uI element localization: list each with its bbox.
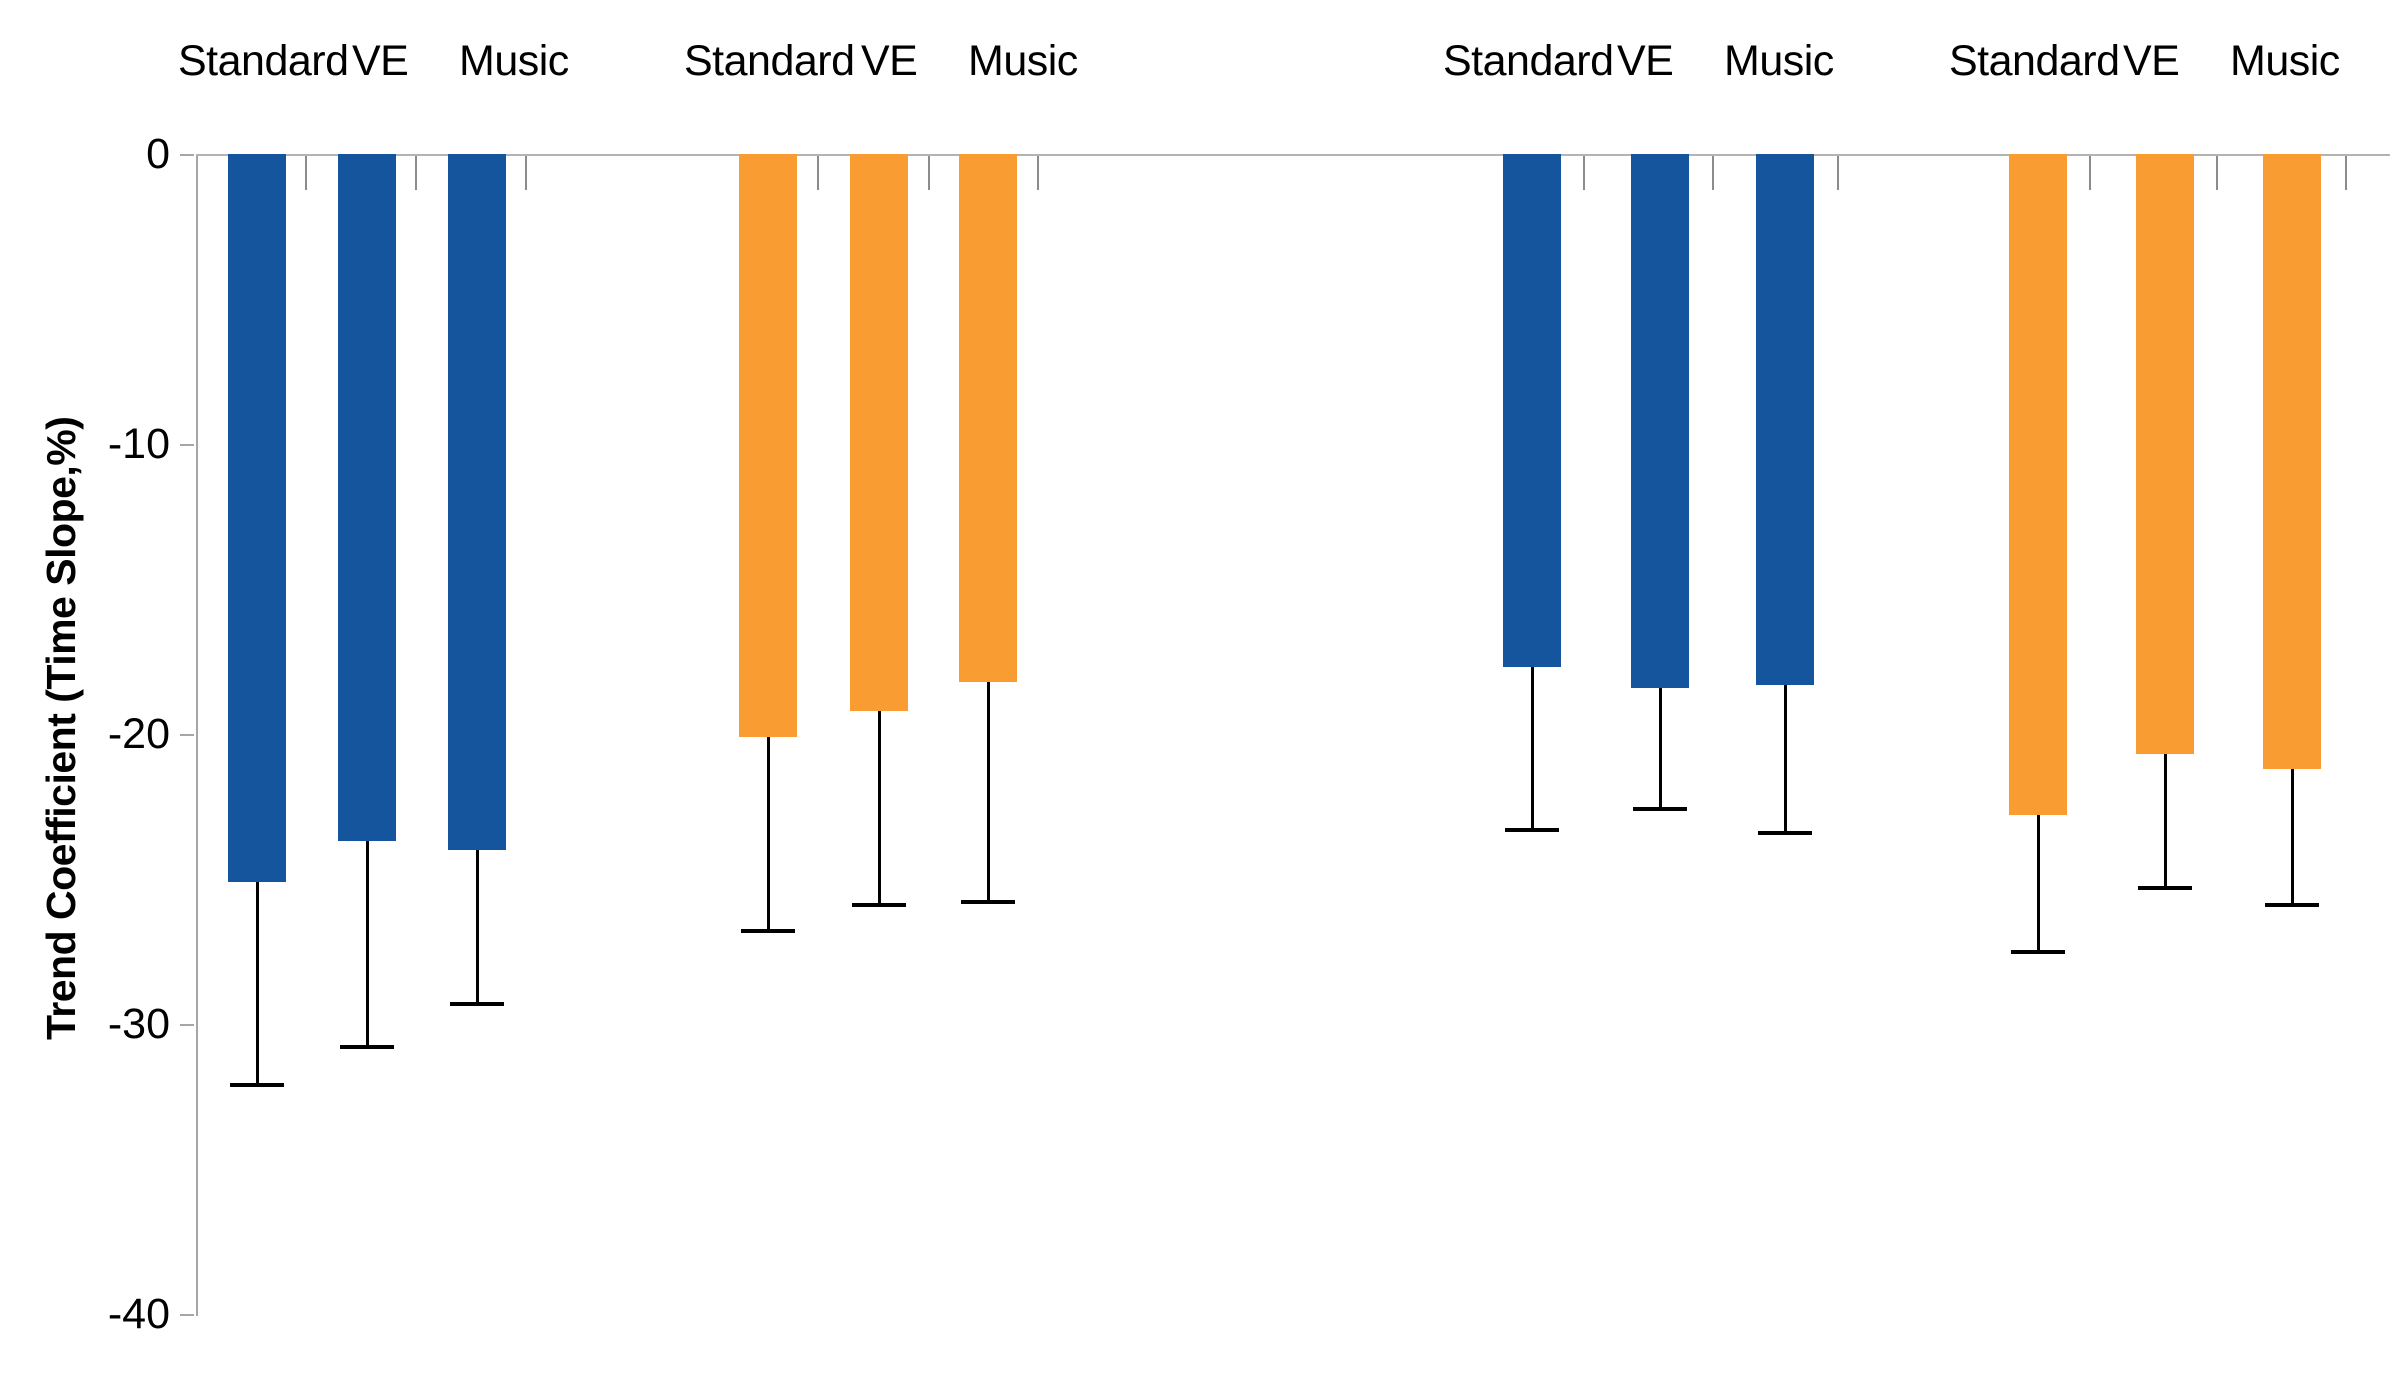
- bar-group4-standard: [2009, 154, 2067, 815]
- bar-group2-ve: [850, 154, 908, 711]
- x-axis-minor-tick-10: [2089, 156, 2091, 190]
- error-bar-cap-group4-standard: [2011, 950, 2065, 954]
- error-bar-stem-group4-music: [2291, 769, 2294, 905]
- x-axis-minor-tick-4: [817, 156, 819, 190]
- bar-group3-standard: [1503, 154, 1561, 667]
- error-bar-stem-group3-standard: [1531, 667, 1534, 829]
- x-axis-minor-tick-9: [1837, 156, 1839, 190]
- error-bar-cap-group1-standard: [230, 1083, 284, 1087]
- error-bar-cap-group4-music: [2265, 903, 2319, 907]
- x-axis-minor-tick-7: [1583, 156, 1585, 190]
- bar-group2-music: [959, 154, 1017, 682]
- bar-group3-ve: [1631, 154, 1689, 688]
- error-bar-stem-group3-music: [1784, 685, 1787, 833]
- x-axis-minor-tick-3: [525, 156, 527, 190]
- bar-group2-standard: [739, 154, 797, 737]
- error-bar-stem-group2-music: [987, 682, 990, 902]
- error-bar-stem-group2-standard: [767, 737, 770, 931]
- error-bar-stem-group1-music: [476, 850, 479, 1004]
- bar-group1-standard: [228, 154, 286, 882]
- error-bar-cap-group2-ve: [852, 903, 906, 907]
- error-bar-stem-group4-standard: [2037, 815, 2040, 951]
- x-axis-minor-tick-6: [1037, 156, 1039, 190]
- error-bar-stem-group3-ve: [1659, 688, 1662, 810]
- error-bar-cap-group3-ve: [1633, 807, 1687, 811]
- bar-group1-music: [448, 154, 506, 850]
- error-bar-stem-group4-ve: [2164, 754, 2167, 887]
- error-bar-stem-group1-ve: [366, 841, 369, 1047]
- chart-canvas: Trend Coefficient (Time Slope,%) 0 -10 -…: [0, 0, 2390, 1384]
- bar-group3-music: [1756, 154, 1814, 685]
- bar-group4-music: [2263, 154, 2321, 769]
- error-bar-cap-group3-music: [1758, 831, 1812, 835]
- x-axis-minor-tick-8: [1712, 156, 1714, 190]
- error-bar-stem-group2-ve: [878, 711, 881, 905]
- bars-layer: [0, 0, 2390, 1384]
- error-bar-cap-group4-ve: [2138, 886, 2192, 890]
- error-bar-cap-group2-music: [961, 900, 1015, 904]
- error-bar-cap-group1-music: [450, 1002, 504, 1006]
- x-axis-minor-tick-5: [928, 156, 930, 190]
- x-axis-minor-tick-11: [2216, 156, 2218, 190]
- bar-group1-ve: [338, 154, 396, 841]
- error-bar-cap-group1-ve: [340, 1045, 394, 1049]
- bar-group4-ve: [2136, 154, 2194, 754]
- error-bar-cap-group2-standard: [741, 929, 795, 933]
- x-axis-minor-tick-12: [2345, 156, 2347, 190]
- x-axis-minor-tick-1: [305, 156, 307, 190]
- error-bar-cap-group3-standard: [1505, 828, 1559, 832]
- x-axis-minor-tick-2: [415, 156, 417, 190]
- error-bar-stem-group1-standard: [256, 882, 259, 1085]
